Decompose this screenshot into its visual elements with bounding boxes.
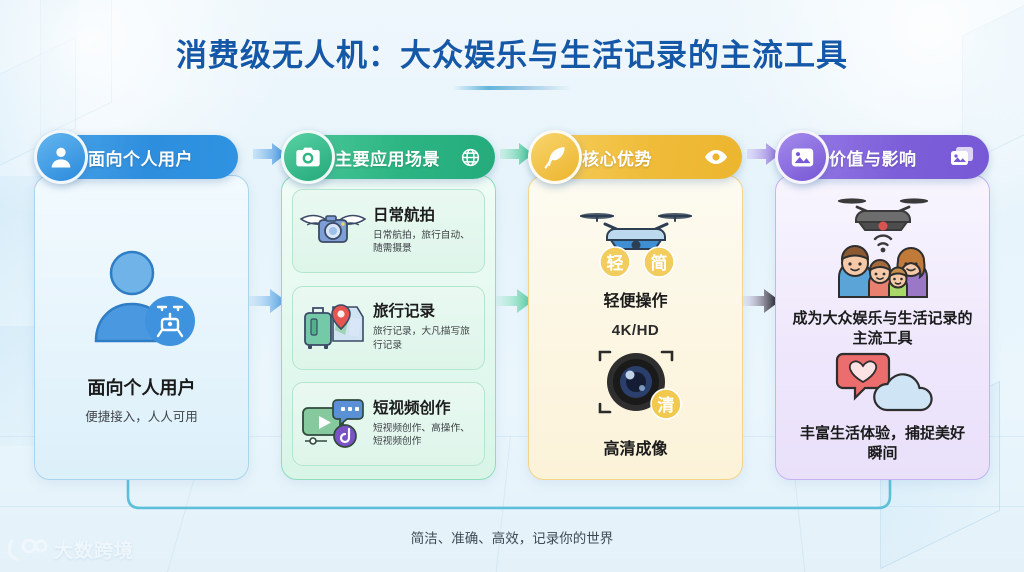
watermark-logo-icon (8, 537, 48, 563)
column-subcaption: 便捷接入，人人可用 (85, 406, 198, 425)
column-content: 轻 简 轻便操作 4K/HD 清 高清成像 (528, 175, 743, 480)
column-personal-users[interactable]: 面向个人用户 面向个人用户 便捷接入，人人可用 (34, 175, 249, 480)
watermark-text: 大数跨境 (54, 536, 134, 563)
watermark: 大数跨境 (8, 536, 134, 563)
page-title-block: 消费级无人机：大众娱乐与生活记录的主流工具 (0, 30, 1024, 90)
advantage-lightweight: 轻 简 轻便操作 (571, 200, 701, 311)
subcard-title: 日常航拍 (373, 207, 435, 224)
drone-family-icon (809, 189, 957, 301)
badge-qing-light: 轻 (606, 253, 623, 273)
eye-icon (694, 145, 728, 169)
footer-tagline: 简洁、准确、高效，记录你的世界 (0, 527, 1024, 547)
page-title: 消费级无人机：大众娱乐与生活记录的主流工具 (0, 30, 1024, 75)
subcard-text: 日常航拍 日常航拍，旅行自动、随需摄景 (373, 207, 476, 255)
column-header-label: 面向个人用户 (88, 145, 193, 170)
subcard-text: 旅行记录 旅行记录，大凡描写旅行记录 (373, 303, 476, 351)
badge-qing-clear: 清 (657, 395, 674, 415)
value-caption: 成为大众娱乐与生活记录的主流工具 (787, 309, 978, 350)
video-play-icon (299, 396, 367, 453)
suitcase-location-icon (299, 299, 367, 356)
user-drone-illustration (86, 245, 198, 358)
subcard-desc: 短视频创作、高操作、短视频创作 (373, 422, 476, 448)
advantage-caption: 高清成像 (603, 435, 667, 459)
column-core-advantages[interactable]: 核心优势 (528, 175, 743, 480)
resolution-tag: 4K/HD (612, 322, 660, 339)
subcard-desc: 旅行记录，大凡描写旅行记录 (373, 325, 476, 351)
subcard-daily-aerial[interactable]: 日常航拍 日常航拍，旅行自动、随需摄景 (292, 189, 485, 273)
winged-camera-icon (299, 203, 367, 260)
column-value-and-impact[interactable]: 价值与影响 (775, 175, 990, 480)
column-header-label: 核心优势 (582, 145, 652, 170)
subcard-travel-record[interactable]: 旅行记录 旅行记录，大凡描写旅行记录 (292, 286, 485, 370)
images-icon (939, 145, 975, 169)
column-header-pill[interactable]: 核心优势 (534, 135, 742, 179)
badge-jian: 简 (650, 253, 667, 273)
subcard-text: 短视频创作 短视频创作、高操作、短视频创作 (373, 400, 476, 448)
heart-cloud-icon (827, 350, 939, 416)
column-caption: 面向个人用户 (88, 374, 196, 400)
globe-icon (450, 147, 481, 168)
subcard-title: 旅行记录 (373, 303, 435, 320)
value-caption: 丰富生活体验，捕捉美好瞬间 (798, 424, 968, 465)
subcard-title: 短视频创作 (373, 400, 451, 417)
subcard-short-video[interactable]: 短视频创作 短视频创作、高操作、短视频创作 (292, 382, 485, 466)
value-life-experience: 丰富生活体验，捕捉美好瞬间 (798, 350, 968, 465)
drone-icon: 轻 简 (571, 200, 701, 278)
column-header-pill[interactable]: 主要应用场景 (287, 135, 495, 179)
column-content: 面向个人用户 便捷接入，人人可用 (34, 175, 249, 480)
column-header-pill[interactable]: 价值与影响 (781, 135, 989, 179)
camera-lens-icon: 清 (580, 342, 692, 426)
subcard-desc: 日常航拍，旅行自动、随需摄景 (373, 229, 476, 255)
value-mainstream-tool: 成为大众娱乐与生活记录的主流工具 (787, 189, 978, 350)
title-underline (453, 86, 571, 90)
column-content: 成为大众娱乐与生活记录的主流工具 丰富生活体验，捕捉美好瞬间 (775, 175, 990, 480)
column-header-label: 价值与影响 (829, 145, 917, 170)
advantage-caption: 轻便操作 (603, 287, 667, 311)
column-header-pill[interactable]: 面向个人用户 (40, 135, 238, 179)
column-application-scenarios[interactable]: 主要应用场景 (281, 175, 496, 480)
column-content: 日常航拍 日常航拍，旅行自动、随需摄景 (281, 175, 496, 480)
column-header-label: 主要应用场景 (335, 145, 440, 170)
advantage-hd-imaging: 4K/HD 清 高清成像 (580, 322, 692, 459)
